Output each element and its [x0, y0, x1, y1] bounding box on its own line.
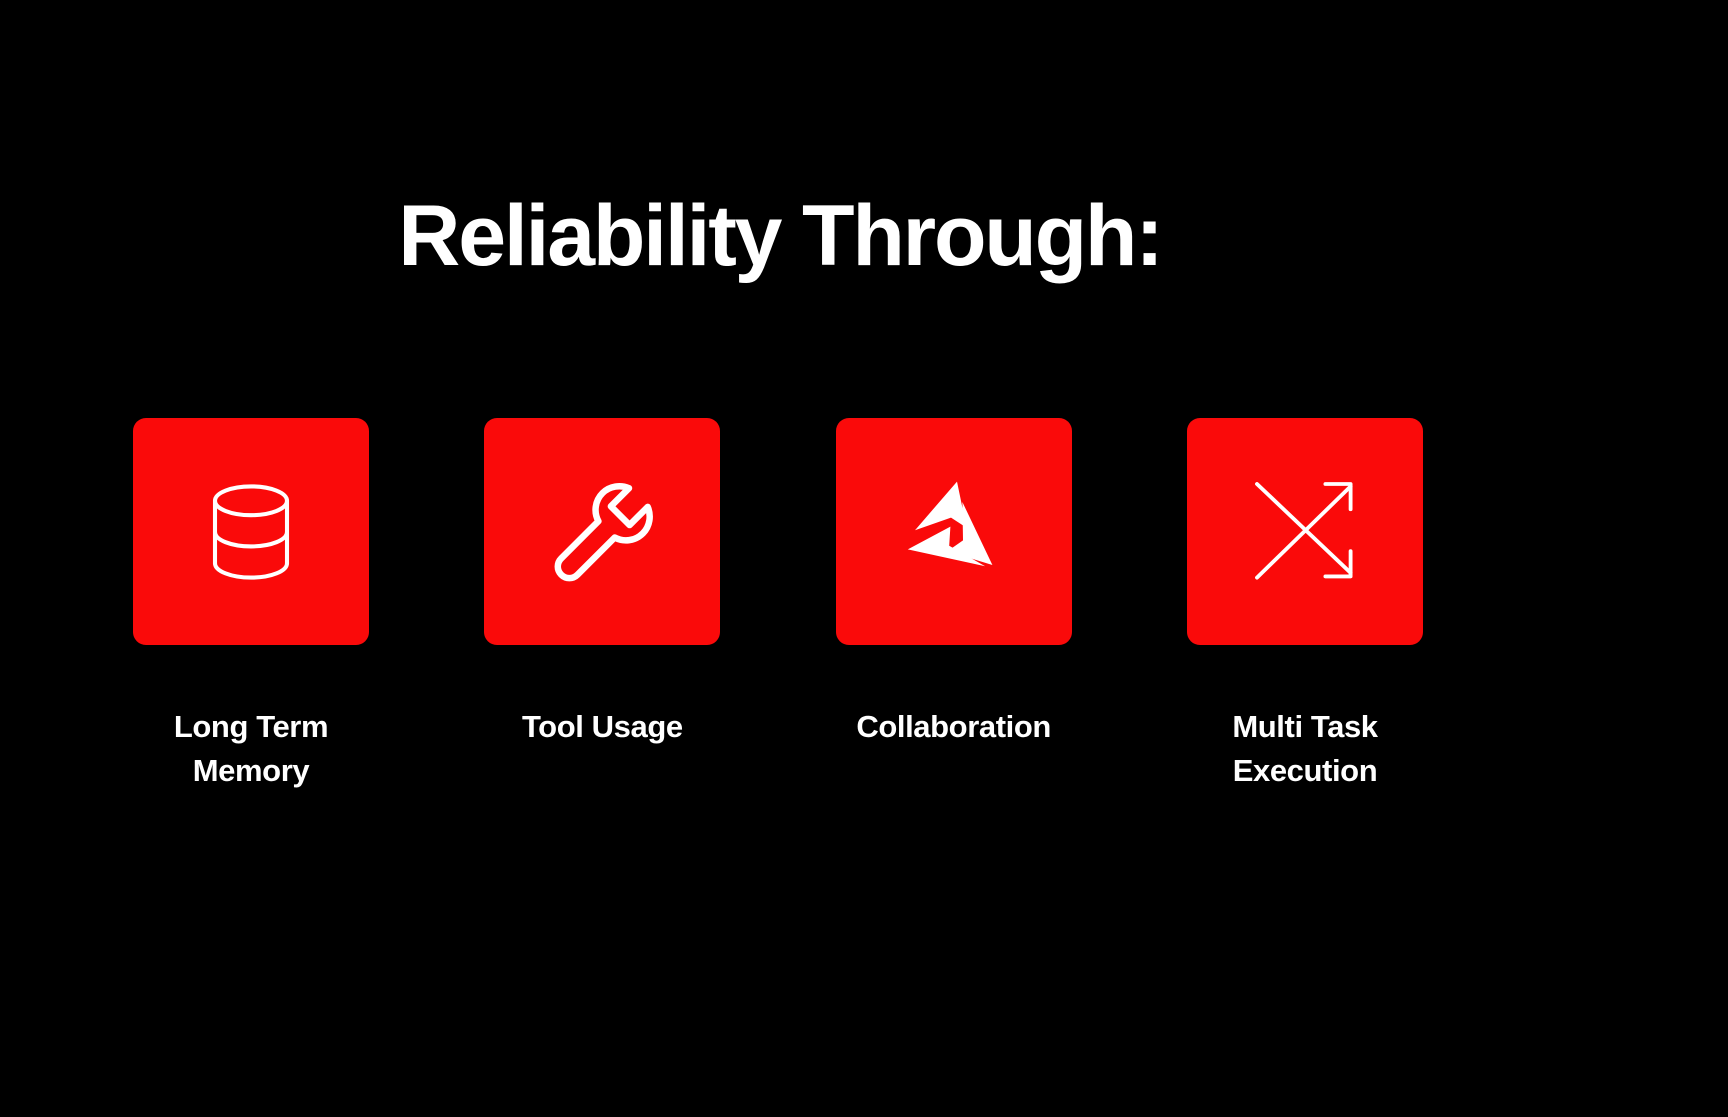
- feature-tile-collaboration[interactable]: Collaboration: [836, 418, 1072, 749]
- tile-label: Multi Task Execution: [1232, 705, 1377, 793]
- wrench-icon: [542, 472, 662, 592]
- icon-tile[interactable]: [836, 418, 1072, 645]
- icon-tile[interactable]: [1187, 418, 1423, 645]
- feature-tile-multi-task-execution[interactable]: Multi Task Execution: [1187, 418, 1423, 793]
- tile-label: Long Term Memory: [174, 705, 328, 793]
- tile-label: Tool Usage: [522, 705, 683, 749]
- collaboration-cycle-icon: [894, 472, 1014, 592]
- tile-label: Collaboration: [856, 705, 1051, 749]
- icon-tile[interactable]: [133, 418, 369, 645]
- feature-tile-long-term-memory[interactable]: Long Term Memory: [133, 418, 369, 793]
- database-icon: [191, 472, 311, 592]
- feature-tiles-row: Long Term Memory Tool Usage: [133, 418, 1423, 793]
- slide-root: Reliability Through: Long Term Memory: [0, 0, 1728, 1117]
- shuffle-arrows-icon: [1245, 472, 1365, 592]
- page-title: Reliability Through:: [0, 191, 1560, 281]
- feature-tile-tool-usage[interactable]: Tool Usage: [484, 418, 720, 749]
- icon-tile[interactable]: [484, 418, 720, 645]
